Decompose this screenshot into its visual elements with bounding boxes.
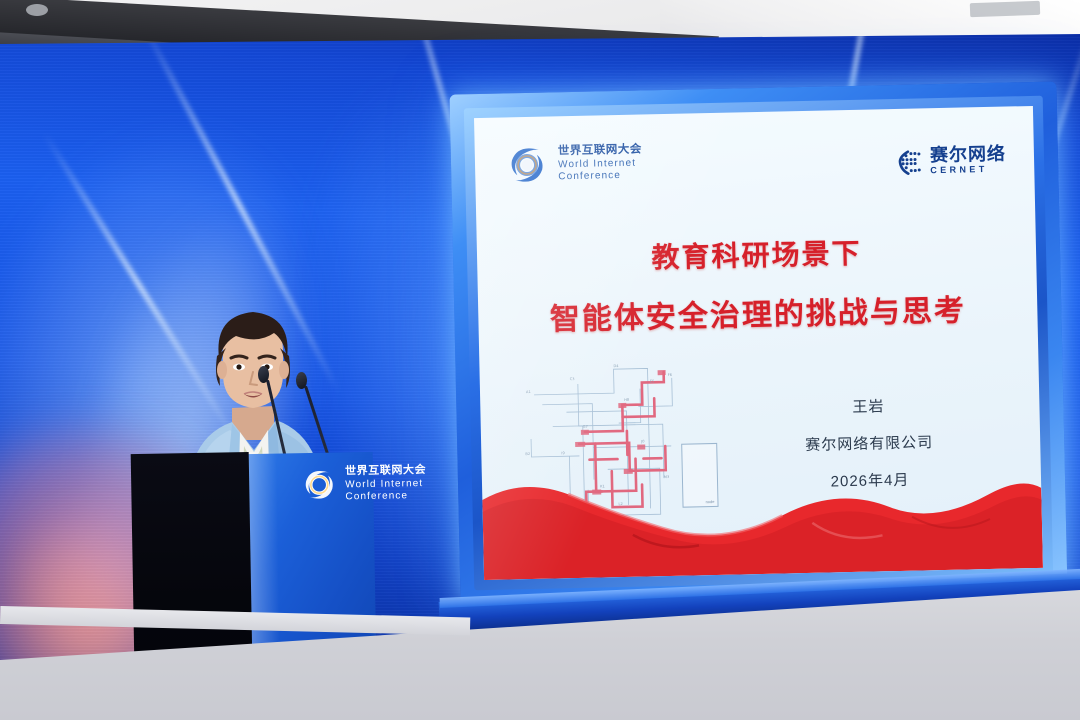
svg-text:D4: D4 — [613, 364, 619, 368]
cernet-logo-mark-icon — [897, 148, 924, 177]
ceiling-light-fixture — [26, 4, 48, 16]
svg-text:E5: E5 — [650, 379, 655, 383]
ceiling-vent — [970, 1, 1040, 17]
svg-text:A1: A1 — [526, 390, 531, 394]
podium-wic-logo: 世界互联网大会 World Internet Conference — [299, 463, 427, 505]
cernet-cn: 赛尔网络 — [930, 145, 1006, 165]
slide-wic-en-2: Conference — [558, 169, 642, 183]
presentation-screen[interactable]: 世界互联网大会 World Internet Conference — [450, 81, 1068, 604]
podium-logo-en-1: World Internet — [345, 478, 426, 491]
svg-text:G7: G7 — [583, 425, 588, 429]
slide-title-line-1: 教育科研场景下 — [477, 228, 1037, 280]
slide-content: 世界互联网大会 World Internet Conference — [474, 106, 1043, 580]
svg-text:C3: C3 — [570, 377, 575, 381]
podium-logo-en-2: Conference — [345, 490, 426, 503]
podium-logo-cn: 世界互联网大会 — [345, 464, 426, 479]
wic-logo-mark-icon — [505, 143, 550, 188]
slide-cernet-logo: 赛尔网络 CERNET — [897, 145, 1007, 179]
svg-text:B2: B2 — [525, 452, 530, 456]
svg-text:I9: I9 — [561, 451, 565, 455]
author-name: 王岩 — [753, 397, 983, 417]
slide-title-line-2: 智能体安全治理的挑战与思考 — [478, 284, 1038, 340]
svg-text:F6: F6 — [668, 373, 673, 377]
red-silk-wave — [481, 448, 1042, 580]
slide-title-block: 教育科研场景下 智能体安全治理的挑战与思考 — [477, 228, 1038, 340]
cernet-en: CERNET — [930, 163, 1006, 178]
wic-logo-mark-icon — [299, 464, 340, 505]
slide-wic-en-1: World Internet — [558, 157, 642, 171]
slide-wic-logo: 世界互联网大会 World Internet Conference — [505, 141, 643, 188]
svg-text:H8: H8 — [624, 398, 630, 402]
conference-photo-scene: 世界互联网大会 World Internet Conference — [0, 0, 1080, 720]
svg-text:J0: J0 — [640, 439, 645, 443]
